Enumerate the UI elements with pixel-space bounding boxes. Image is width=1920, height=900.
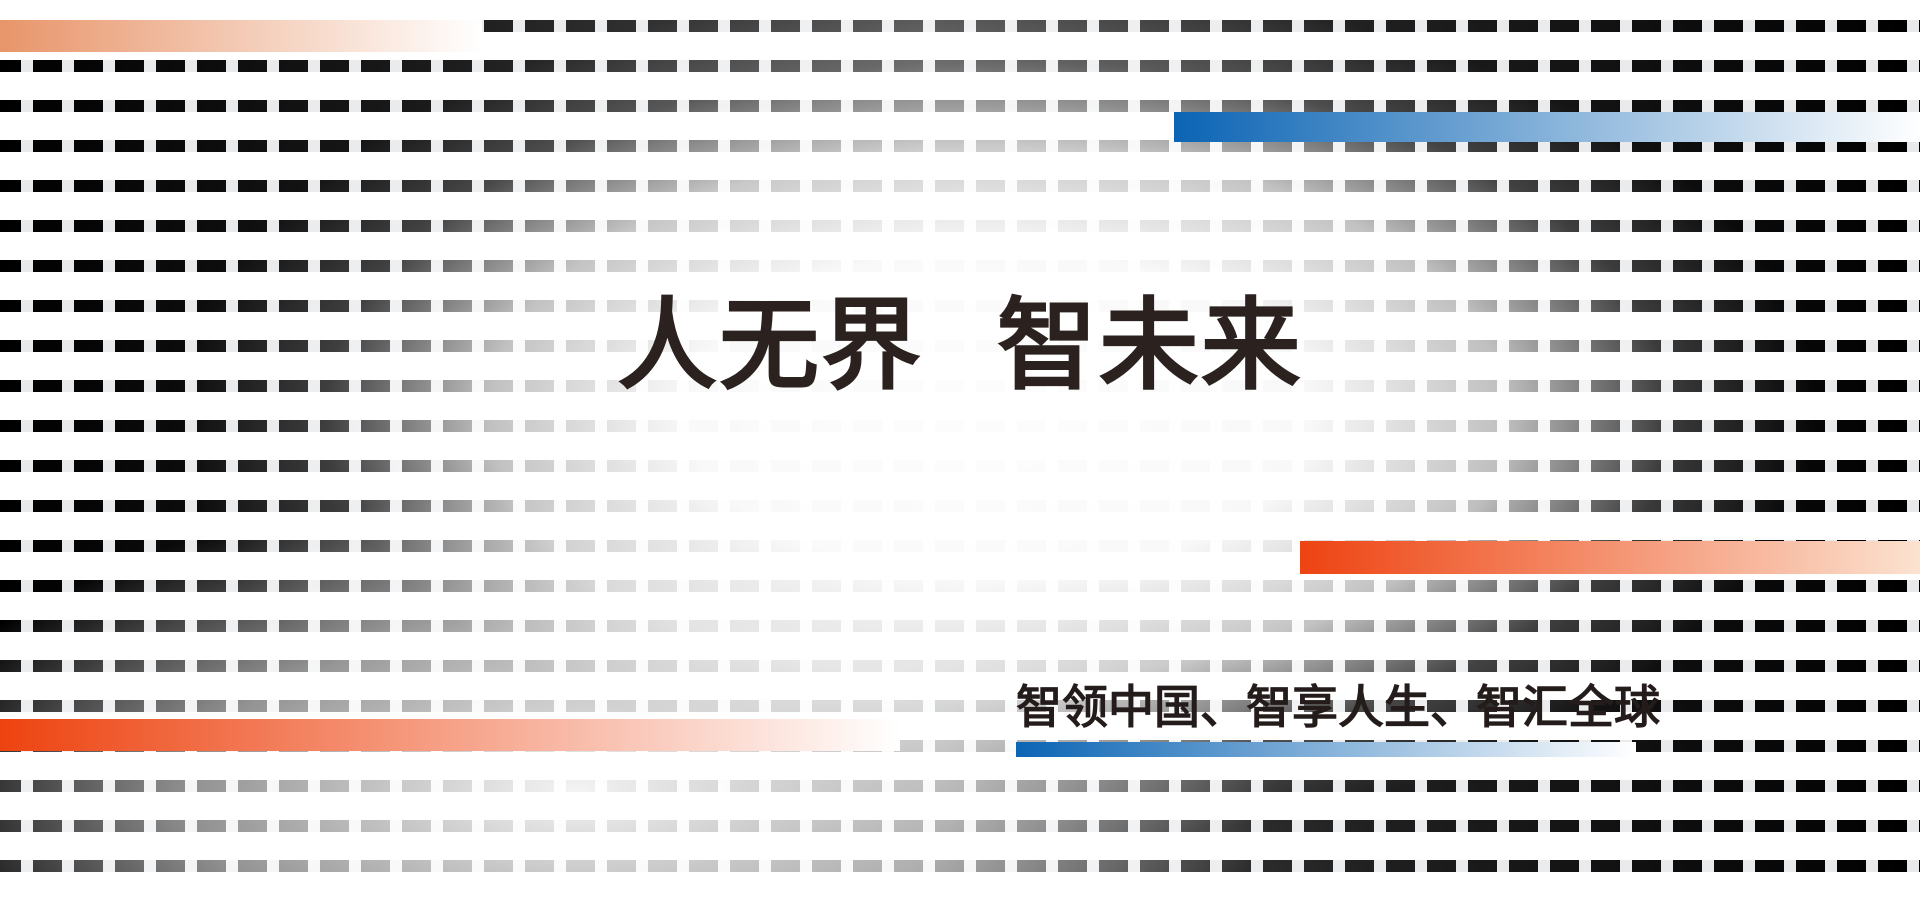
page-title: 人无界 智未来 xyxy=(0,288,1920,403)
blue-gradient-bar-top-right xyxy=(1174,112,1920,142)
orange-gradient-bar-top-left xyxy=(0,20,482,52)
subtitle-block: 智领中国、智享人生、智汇全球 xyxy=(1016,678,1676,738)
subtitle-text: 智领中国、智享人生、智汇全球 xyxy=(1016,678,1676,738)
background-dot-grid xyxy=(0,0,1920,900)
orange-gradient-bar-bottom-left xyxy=(0,719,900,751)
title-slide: 人无界 智未来 智领中国、智享人生、智汇全球 xyxy=(0,0,1920,900)
background-dot-fade-overlay xyxy=(0,0,1920,900)
orange-gradient-bar-mid-right xyxy=(1300,541,1920,574)
blue-gradient-underline xyxy=(1016,742,1636,757)
